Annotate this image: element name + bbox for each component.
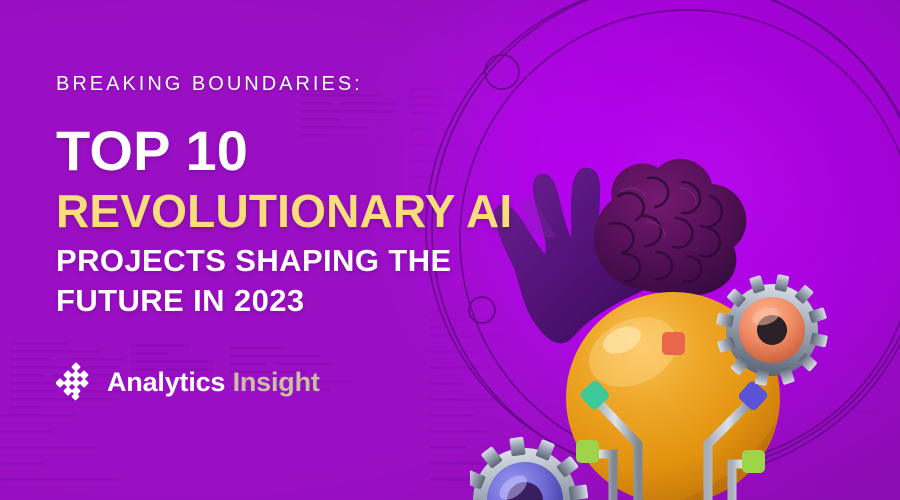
logo-wordmark: Analytics Insight — [107, 369, 320, 396]
headline-line-4: FUTURE IN 2023 — [56, 284, 526, 318]
eyebrow-text: BREAKING BOUNDARIES: — [56, 74, 526, 94]
brain-3d — [594, 159, 746, 296]
headline-line-1: TOP 10 — [56, 120, 526, 182]
banner-canvas: BREAKING BOUNDARIES: TOP 10 REVOLUTIONAR… — [0, 0, 900, 500]
headline-line-2: REVOLUTIONARY AI — [56, 186, 526, 237]
headline-block: BREAKING BOUNDARIES: TOP 10 REVOLUTIONAR… — [56, 74, 526, 324]
hero-artwork — [470, 0, 900, 500]
logo-word-insight: Insight — [233, 367, 320, 397]
logo-word-analytics: Analytics — [107, 367, 225, 397]
headline-line-3: PROJECTS SHAPING THE — [56, 244, 526, 278]
brand-logo[interactable]: Analytics Insight — [56, 362, 320, 402]
dot-diamond-grid-icon — [56, 362, 96, 402]
